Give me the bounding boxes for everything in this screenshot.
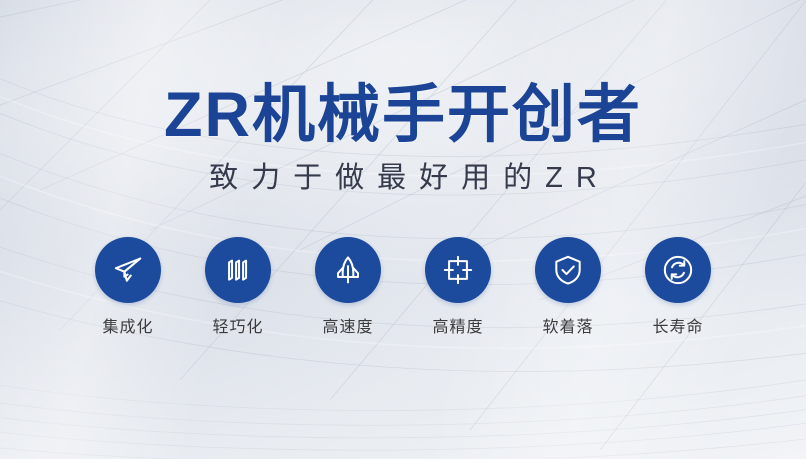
- banner-content: ZR机械手开创者 致力于做最好用的ZR 集成化: [0, 0, 806, 459]
- feature-icon-circle: [205, 237, 271, 303]
- feature-icon-circle: [95, 237, 161, 303]
- rocket-icon: [331, 253, 365, 287]
- refresh-cycle-icon: [661, 253, 695, 287]
- feature-label: 集成化: [102, 320, 153, 336]
- feature-icon-circle: [535, 237, 601, 303]
- page-title: ZR机械手开创者: [164, 84, 642, 147]
- feature-icon-circle: [425, 237, 491, 303]
- feature-list: 集成化 轻巧化: [88, 237, 718, 336]
- shield-check-icon: [551, 253, 585, 287]
- feature-item[interactable]: 轻巧化: [198, 237, 278, 336]
- feature-item[interactable]: 高速度: [308, 237, 388, 336]
- feature-icon-circle: [315, 237, 381, 303]
- feature-label: 轻巧化: [212, 320, 263, 336]
- feature-item[interactable]: 软着落: [528, 237, 608, 336]
- feature-icon-circle: [645, 237, 711, 303]
- feature-label: 长寿命: [652, 320, 703, 336]
- feature-item[interactable]: 长寿命: [638, 237, 718, 336]
- feature-item[interactable]: 集成化: [88, 237, 168, 336]
- feature-label: 高速度: [322, 320, 373, 336]
- paper-plane-icon: [111, 253, 145, 287]
- three-panels-icon: [221, 253, 255, 287]
- promo-banner: ZR机械手开创者 致力于做最好用的ZR 集成化: [0, 0, 806, 459]
- feature-label: 软着落: [542, 320, 593, 336]
- feature-item[interactable]: 高精度: [418, 237, 498, 336]
- feature-label: 高精度: [432, 320, 483, 336]
- crosshair-frame-icon: [441, 253, 475, 287]
- page-subtitle: 致力于做最好用的ZR: [196, 164, 610, 193]
